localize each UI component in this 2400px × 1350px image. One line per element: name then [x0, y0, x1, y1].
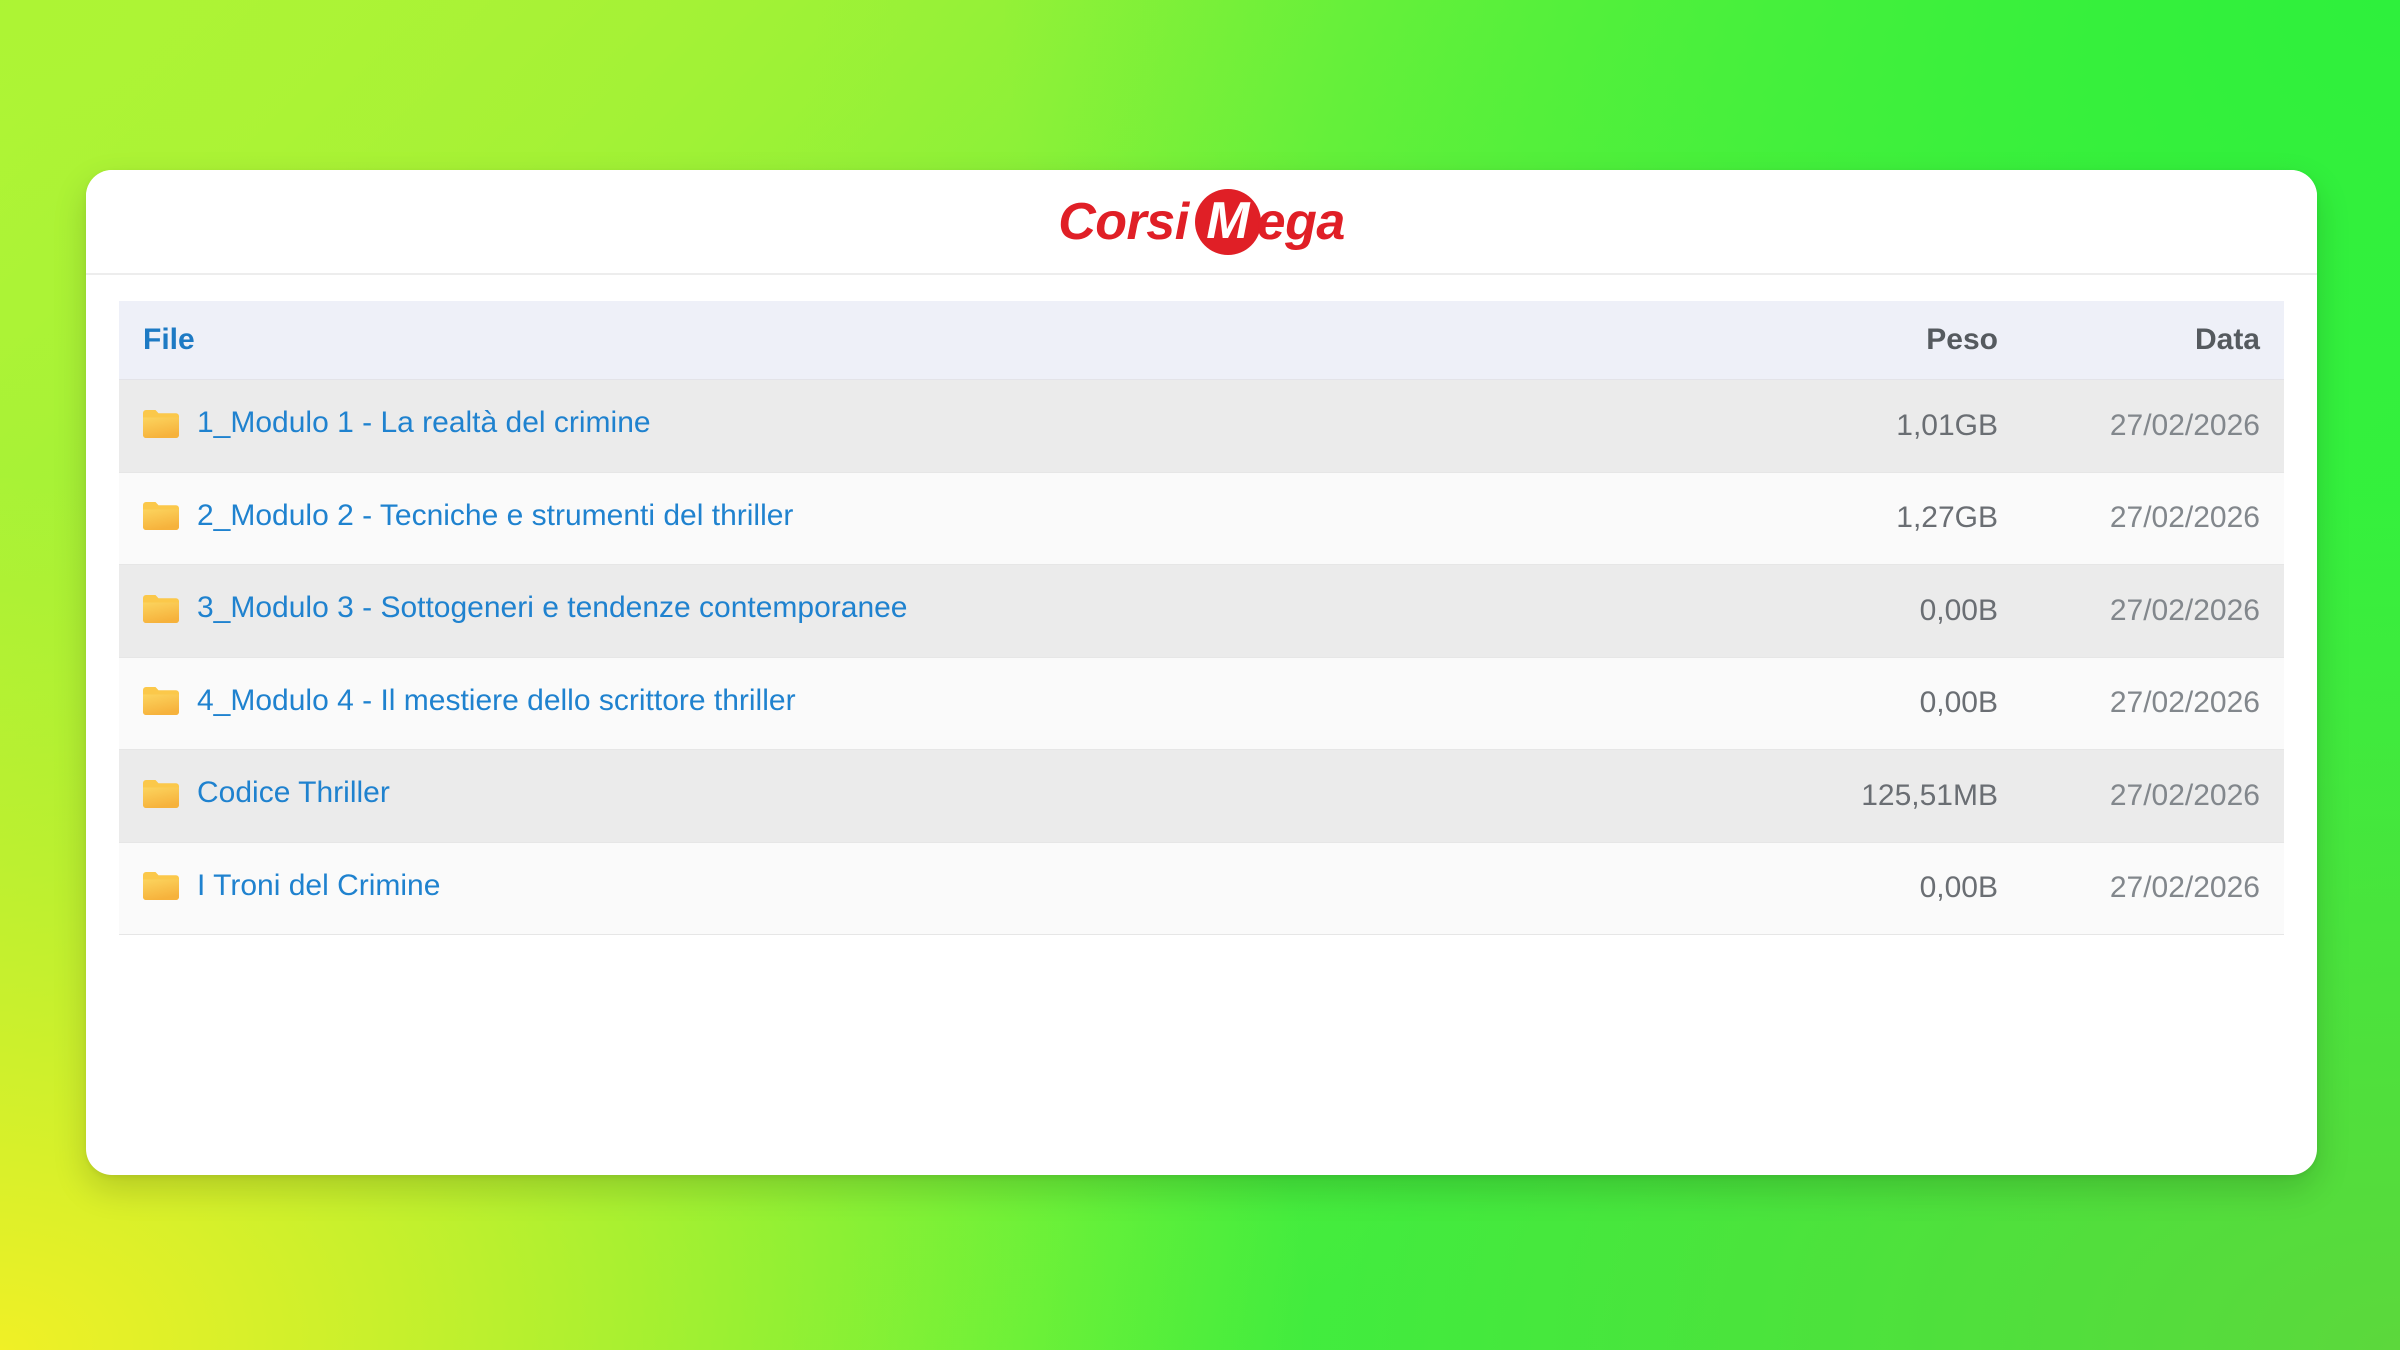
file-name: 4_Modulo 4 - Il mestiere dello scrittore… [197, 684, 796, 718]
file-size: 1,27GB [1684, 472, 2014, 565]
column-header-file[interactable]: File [119, 301, 1684, 380]
file-cell: I Troni del Crimine [119, 842, 1684, 935]
table-row[interactable]: 2_Modulo 2 - Tecniche e strumenti del th… [119, 472, 2284, 565]
file-date: 27/02/2026 [2014, 657, 2284, 750]
file-link[interactable]: 3_Modulo 3 - Sottogeneri e tendenze cont… [143, 591, 908, 625]
file-size: 1,01GB [1684, 380, 2014, 473]
file-date: 27/02/2026 [2014, 750, 2284, 843]
file-date: 27/02/2026 [2014, 565, 2284, 658]
table-row[interactable]: 1_Modulo 1 - La realtà del crimine 1,01G… [119, 380, 2284, 473]
file-name: 1_Modulo 1 - La realtà del crimine [197, 406, 651, 440]
brand-logo-text-right: ega [1257, 196, 1345, 248]
folder-icon [143, 501, 179, 530]
file-date: 27/02/2026 [2014, 472, 2284, 565]
brand-logo-text-left: Corsi [1058, 196, 1188, 248]
brand-logo-badge-letter: M [1206, 195, 1249, 247]
table-header-row: File Peso Data [119, 301, 2284, 380]
column-header-peso[interactable]: Peso [1684, 301, 2014, 380]
file-size: 125,51MB [1684, 750, 2014, 843]
brand-header: Corsi M ega [86, 170, 2317, 275]
column-header-data[interactable]: Data [2014, 301, 2284, 380]
file-size: 0,00B [1684, 565, 2014, 658]
file-size: 0,00B [1684, 842, 2014, 935]
file-table: File Peso Data [119, 301, 2284, 935]
file-link[interactable]: 4_Modulo 4 - Il mestiere dello scrittore… [143, 684, 796, 718]
file-name: Codice Thriller [197, 776, 390, 810]
file-cell: 3_Modulo 3 - Sottogeneri e tendenze cont… [119, 565, 1684, 658]
file-date: 27/02/2026 [2014, 380, 2284, 473]
file-date: 27/02/2026 [2014, 842, 2284, 935]
brand-logo-circle-badge: M [1195, 189, 1261, 255]
file-size: 0,00B [1684, 657, 2014, 750]
file-link[interactable]: Codice Thriller [143, 776, 390, 810]
folder-icon [143, 779, 179, 808]
file-cell: 2_Modulo 2 - Tecniche e strumenti del th… [119, 472, 1684, 565]
folder-icon [143, 871, 179, 900]
folder-icon [143, 686, 179, 715]
brand-logo: Corsi M ega [1058, 189, 1345, 255]
file-table-body: 1_Modulo 1 - La realtà del crimine 1,01G… [119, 380, 2284, 935]
file-cell: 4_Modulo 4 - Il mestiere dello scrittore… [119, 657, 1684, 750]
file-link[interactable]: I Troni del Crimine [143, 869, 440, 903]
file-name: I Troni del Crimine [197, 869, 440, 903]
file-cell: Codice Thriller [119, 750, 1684, 843]
table-row[interactable]: 3_Modulo 3 - Sottogeneri e tendenze cont… [119, 565, 2284, 658]
file-browser-card: Corsi M ega File Peso Data [86, 170, 2317, 1175]
file-cell: 1_Modulo 1 - La realtà del crimine [119, 380, 1684, 473]
file-table-container: File Peso Data [86, 275, 2317, 935]
table-row[interactable]: I Troni del Crimine 0,00B 27/02/2026 [119, 842, 2284, 935]
file-link[interactable]: 2_Modulo 2 - Tecniche e strumenti del th… [143, 499, 793, 533]
file-link[interactable]: 1_Modulo 1 - La realtà del crimine [143, 406, 651, 440]
table-row[interactable]: Codice Thriller 125,51MB 27/02/2026 [119, 750, 2284, 843]
folder-icon [143, 409, 179, 438]
folder-icon [143, 594, 179, 623]
file-name: 2_Modulo 2 - Tecniche e strumenti del th… [197, 499, 793, 533]
file-name: 3_Modulo 3 - Sottogeneri e tendenze cont… [197, 591, 908, 625]
table-row[interactable]: 4_Modulo 4 - Il mestiere dello scrittore… [119, 657, 2284, 750]
file-table-header: File Peso Data [119, 301, 2284, 380]
